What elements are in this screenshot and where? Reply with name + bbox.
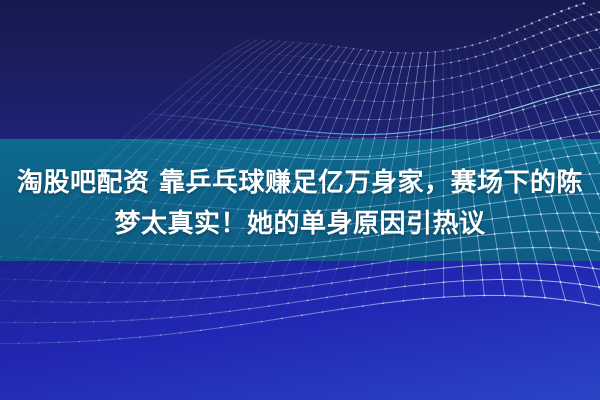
banner-image: 淘股吧配资 靠乒乓球赚足亿万身家，赛场下的陈梦太真实！她的单身原因引热议	[0, 0, 600, 400]
headline-text: 淘股吧配资 靠乒乓球赚足亿万身家，赛场下的陈梦太真实！她的单身原因引热议	[0, 163, 600, 245]
text-overlay: 淘股吧配资 靠乒乓球赚足亿万身家，赛场下的陈梦太真实！她的单身原因引热议	[0, 0, 600, 400]
